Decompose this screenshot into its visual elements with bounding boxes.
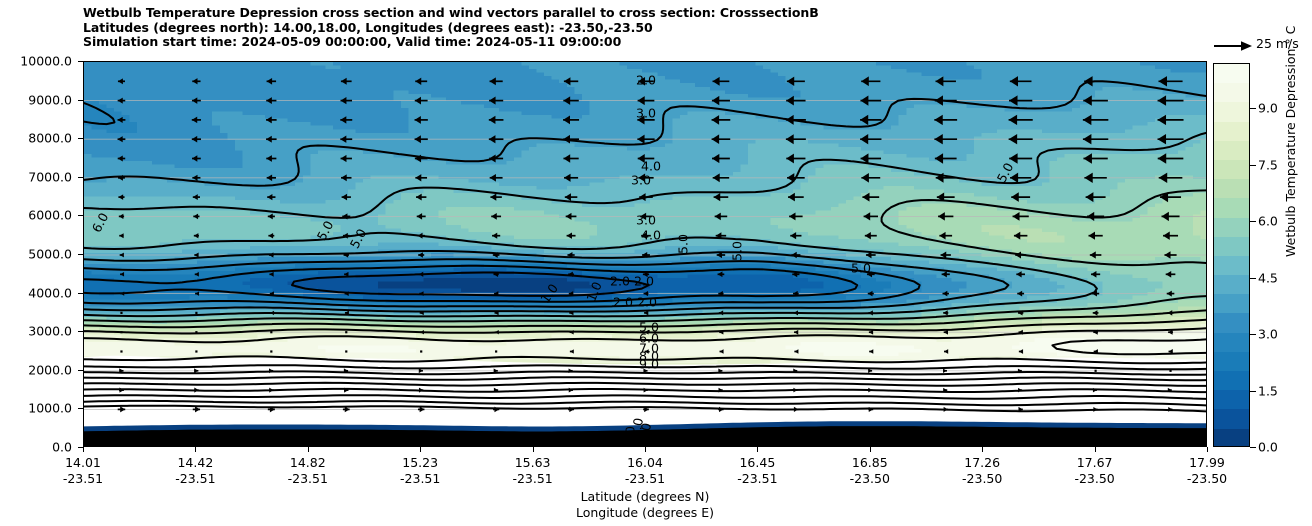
y-axis-tick-label: 7000.0 — [0, 169, 72, 184]
contour-label: 5.0 — [730, 241, 745, 261]
contour-label: 0.0 — [1051, 434, 1071, 448]
y-axis-tick-label: 8000.0 — [0, 131, 72, 146]
colorbar-band — [1214, 141, 1249, 160]
x-axis-tick-label-latitude: 16.45 — [702, 455, 812, 470]
colorbar-tick-label: 4.5 — [1258, 270, 1278, 285]
colorbar-band — [1214, 237, 1249, 256]
contour-label: 5.0 — [851, 261, 871, 276]
contour-label: 2.0 — [636, 73, 656, 88]
title-line-1: Wetbulb Temperature Depression cross sec… — [83, 6, 1083, 21]
y-axis-tick-label: 2000.0 — [0, 362, 72, 377]
y-axis-tick-mark — [78, 447, 83, 448]
colorbar-band — [1214, 198, 1249, 217]
colorbar-tick-mark — [1250, 165, 1256, 166]
x-axis-tick-label-longitude: -23.51 — [702, 471, 812, 486]
x-axis-tick-mark — [982, 447, 983, 452]
colorbar-band — [1214, 294, 1249, 313]
x-axis-tick-label-longitude: -23.51 — [478, 471, 588, 486]
x-axis-tick-mark — [870, 447, 871, 452]
y-axis-tick-label: 3000.0 — [0, 324, 72, 339]
x-axis-title-longitude: Longitude (degrees E) — [0, 505, 1290, 520]
x-axis-tick-label-longitude: -23.51 — [590, 471, 700, 486]
x-axis-tick-label-latitude: 14.82 — [253, 455, 363, 470]
contour-label: 3.0 — [636, 213, 656, 228]
contour-label: 9.0 — [639, 357, 659, 372]
x-axis-tick-label-longitude: -23.51 — [140, 471, 250, 486]
cross-section-plot: 2.03.04.03.03.04.05.05.05.05.05.05.06.02… — [83, 61, 1207, 447]
y-axis-tick-label: 5000.0 — [0, 247, 72, 262]
colorbar-tick-label: 6.0 — [1258, 214, 1278, 229]
x-axis-tick-label-latitude: 17.26 — [927, 455, 1037, 470]
colorbar-band — [1214, 371, 1249, 390]
x-axis-tick-label-latitude: 14.01 — [28, 455, 138, 470]
contour-label: 0.0 — [1156, 434, 1176, 448]
colorbar-tick-label: 9.0 — [1258, 101, 1278, 116]
x-axis-tick-label-latitude: 15.63 — [478, 455, 588, 470]
x-axis-tick-mark — [420, 447, 421, 452]
colorbar-tick-label: 3.0 — [1258, 327, 1278, 342]
colorbar-tick-mark — [1250, 334, 1256, 335]
x-axis-tick-label-latitude: 16.04 — [590, 455, 700, 470]
x-axis-tick-mark — [1207, 447, 1208, 452]
x-axis-tick-label-latitude: 17.99 — [1152, 455, 1262, 470]
colorbar-band — [1214, 313, 1249, 332]
colorbar-band — [1214, 122, 1249, 141]
contour-label: 2.0 — [637, 295, 657, 310]
x-axis-tick-mark — [195, 447, 196, 452]
x-axis-tick-mark — [83, 447, 84, 452]
y-axis-tick-label: 1000.0 — [0, 401, 72, 416]
x-axis-tick-label-longitude: -23.50 — [1040, 471, 1150, 486]
x-axis-tick-mark — [1095, 447, 1096, 452]
colorbar-tick-mark — [1250, 391, 1256, 392]
wind-vector-key-arrow-icon — [1213, 36, 1253, 56]
contour-label: 3.0 — [636, 106, 656, 121]
colorbar-title: Wetbulb Temperature Depression ° C — [1283, 26, 1298, 257]
title-line-2: Latitudes (degrees north): 14.00,18.00, … — [83, 21, 1083, 36]
y-axis-tick-label: 0.0 — [0, 440, 72, 455]
colorbar — [1213, 63, 1250, 447]
colorbar-band — [1214, 218, 1249, 237]
colorbar-band — [1214, 102, 1249, 121]
colorbar-tick-label: 7.5 — [1258, 157, 1278, 172]
colorbar-band — [1214, 256, 1249, 275]
x-axis-tick-label-longitude: -23.51 — [365, 471, 475, 486]
contour-label: 0.0 — [294, 434, 314, 448]
x-axis-tick-label-longitude: -23.51 — [253, 471, 363, 486]
contour-label: 4.0 — [641, 228, 661, 243]
contour-and-vector-overlay: 2.03.04.03.03.04.05.05.05.05.05.05.06.02… — [84, 62, 1207, 447]
x-axis-tick-label-latitude: 15.23 — [365, 455, 475, 470]
contour-label: 3.0 — [631, 173, 651, 188]
contour-label: 2.0 — [634, 274, 654, 289]
x-axis-tick-label-longitude: -23.51 — [28, 471, 138, 486]
chart-title-block: Wetbulb Temperature Depression cross sec… — [83, 6, 1083, 50]
contour-label: 0.0 — [819, 434, 839, 448]
contour-label: 0.0 — [571, 434, 591, 448]
colorbar-band — [1214, 390, 1249, 409]
contour-label: 2.0 — [610, 274, 630, 289]
colorbar-tick-mark — [1250, 108, 1256, 109]
colorbar-band — [1214, 83, 1249, 102]
colorbar-tick-mark — [1250, 221, 1256, 222]
title-line-3: Simulation start time: 2024-05-09 00:00:… — [83, 35, 1083, 50]
colorbar-band — [1214, 429, 1249, 447]
y-axis-tick-label: 9000.0 — [0, 92, 72, 107]
wind-vector-key-label: 25 m/s — [1256, 36, 1299, 51]
contour-label: 5.0 — [676, 234, 691, 254]
contour-label: 0.0 — [1091, 434, 1111, 448]
colorbar-band — [1214, 179, 1249, 198]
colorbar-band — [1214, 333, 1249, 352]
x-axis-tick-mark — [308, 447, 309, 452]
colorbar-band — [1214, 409, 1249, 428]
y-axis-tick-label: 4000.0 — [0, 285, 72, 300]
colorbar-tick-mark — [1250, 278, 1256, 279]
x-axis-tick-mark — [533, 447, 534, 452]
x-axis-tick-label-longitude: -23.50 — [1152, 471, 1262, 486]
x-axis-tick-label-longitude: -23.50 — [927, 471, 1037, 486]
contour-label: 2.0 — [613, 295, 633, 310]
x-axis-tick-label-latitude: 14.42 — [140, 455, 250, 470]
colorbar-tick-label: 0.0 — [1258, 440, 1278, 455]
x-axis-tick-label-latitude: 16.85 — [815, 455, 925, 470]
x-axis-tick-mark — [645, 447, 646, 452]
x-axis-title-latitude: Latitude (degrees N) — [0, 489, 1290, 504]
contour-label: 4.0 — [641, 159, 661, 174]
colorbar-tick-label: 1.5 — [1258, 383, 1278, 398]
y-axis-tick-label: 6000.0 — [0, 208, 72, 223]
contour-label: 0.0 — [213, 434, 233, 448]
colorbar-tick-mark — [1250, 447, 1256, 448]
y-axis-tick-label: 10000.0 — [0, 54, 72, 69]
x-axis-tick-mark — [757, 447, 758, 452]
x-axis-tick-label-longitude: -23.50 — [815, 471, 925, 486]
colorbar-band — [1214, 64, 1249, 83]
colorbar-band — [1214, 275, 1249, 294]
colorbar-band — [1214, 160, 1249, 179]
colorbar-band — [1214, 352, 1249, 371]
x-axis-tick-label-latitude: 17.67 — [1040, 455, 1150, 470]
